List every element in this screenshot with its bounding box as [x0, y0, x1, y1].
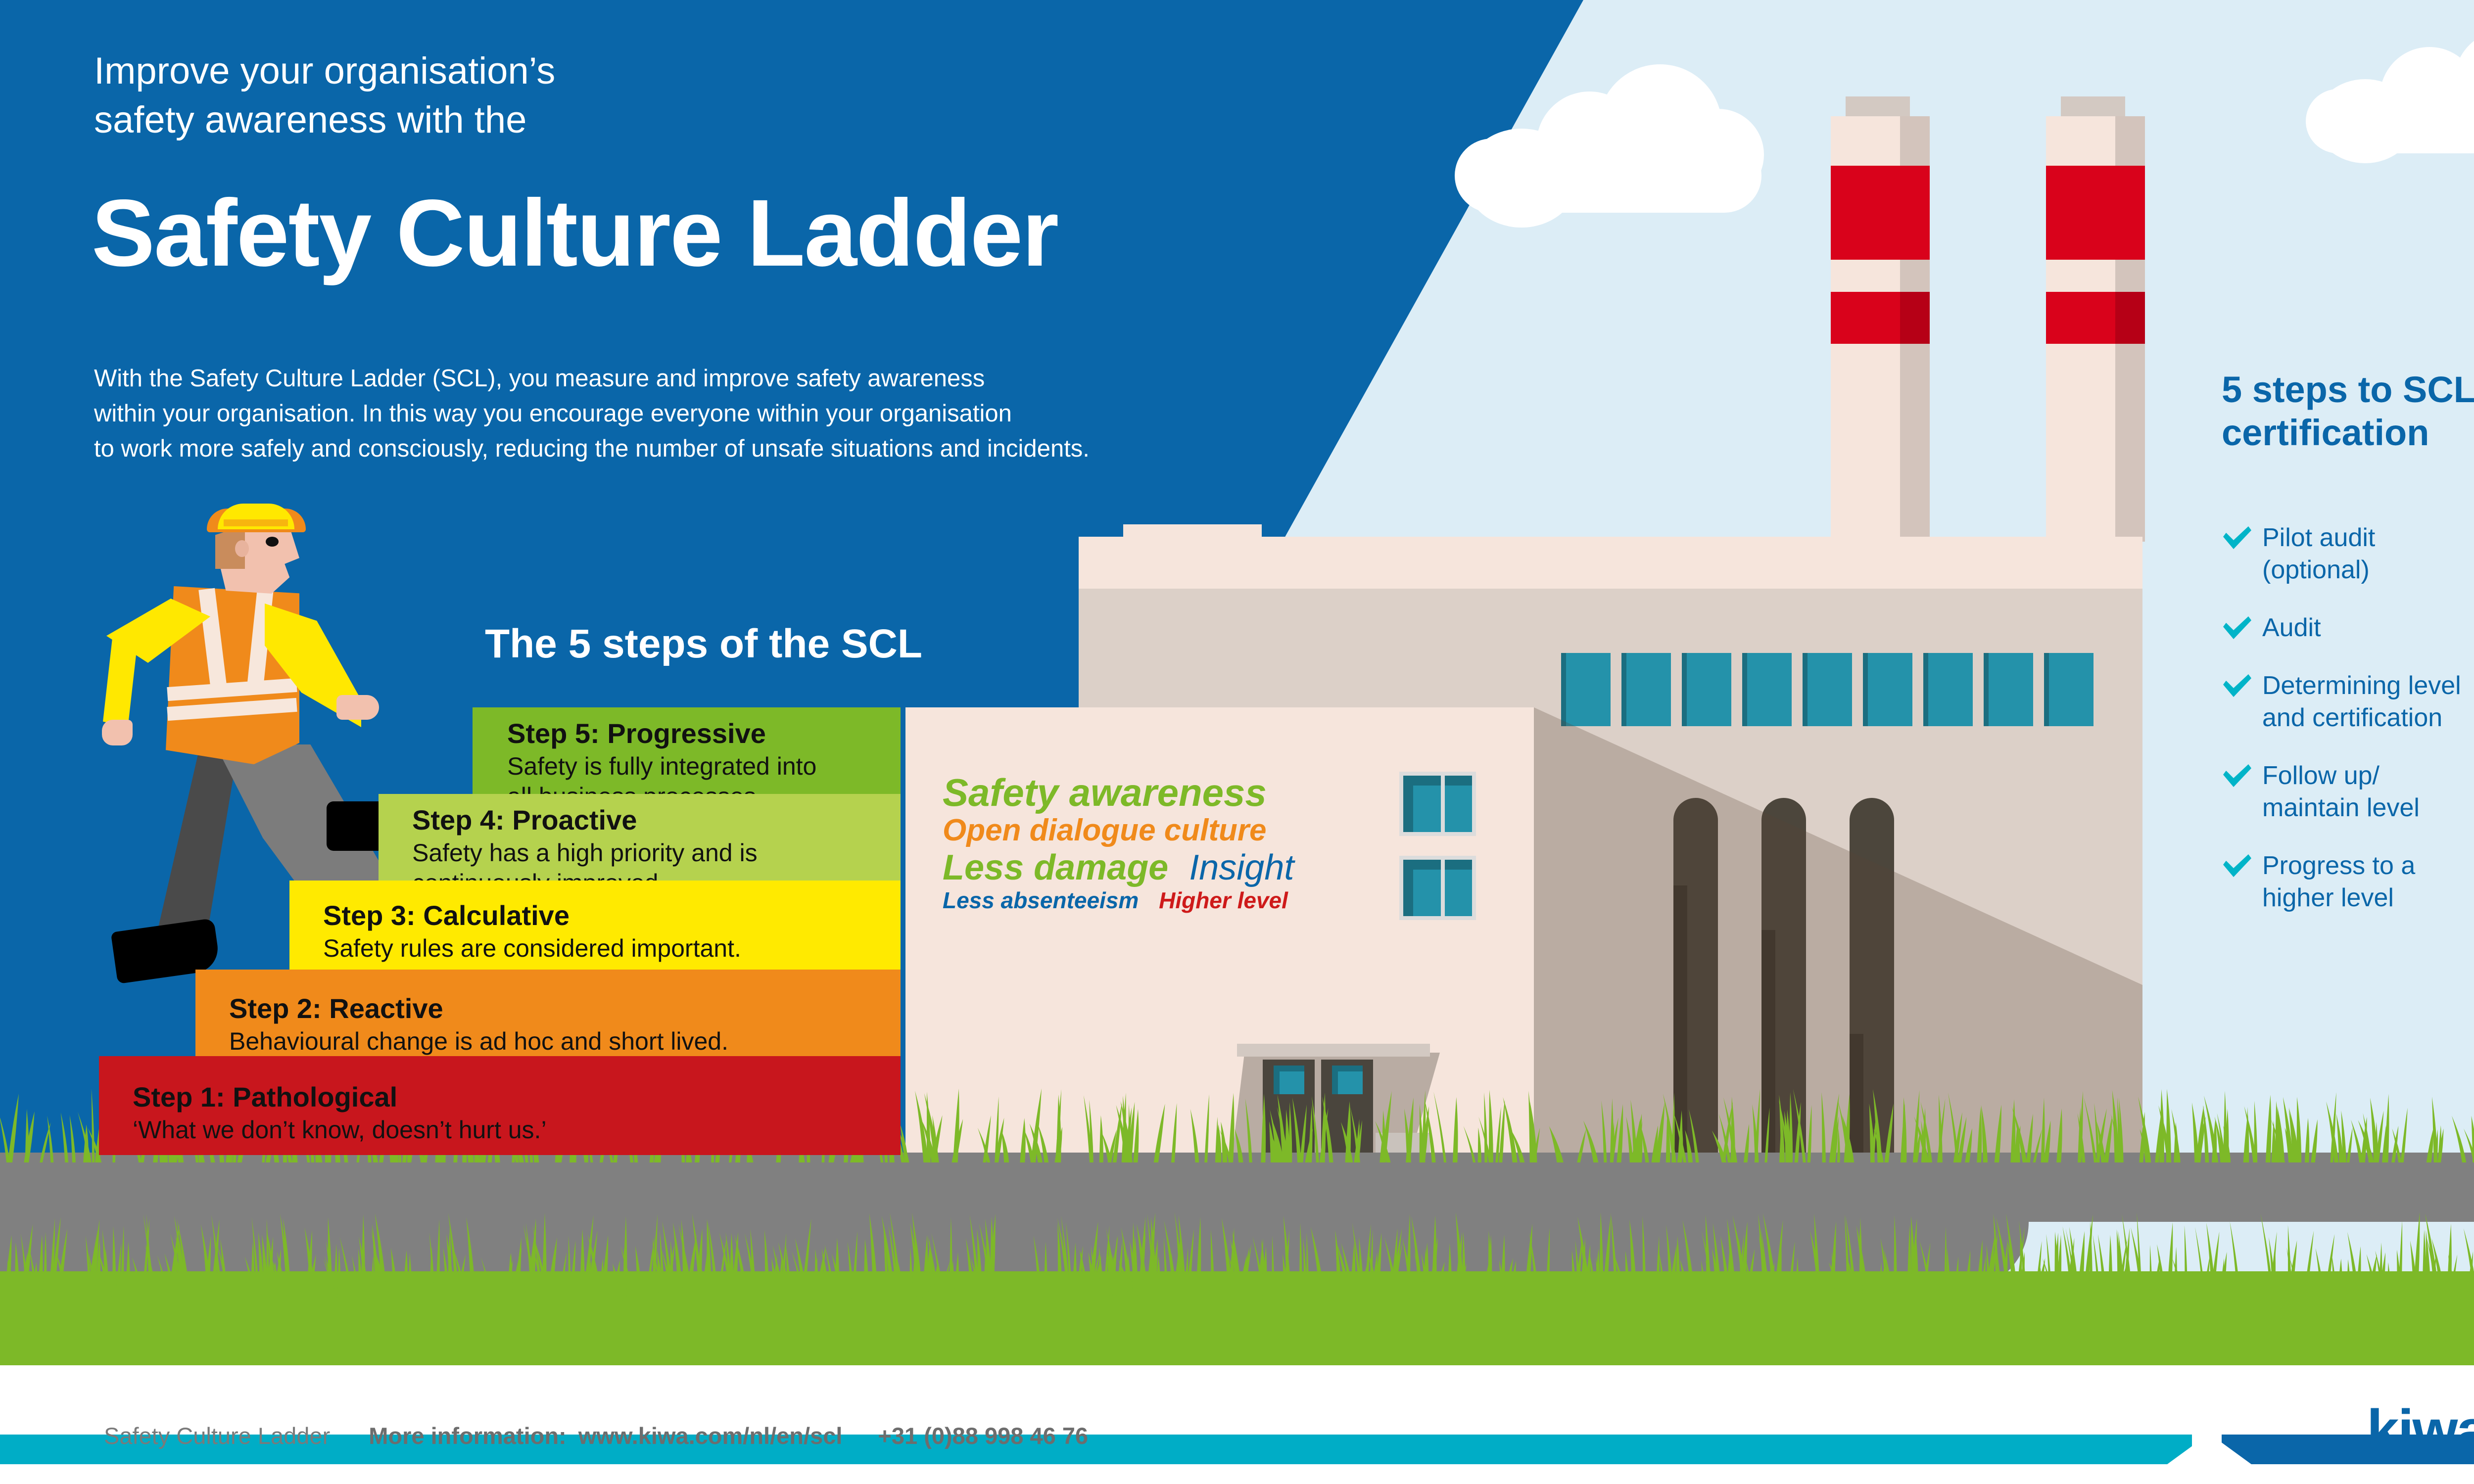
building-roof-line	[1079, 537, 2142, 589]
steps-section-heading: The 5 steps of the SCL	[485, 621, 922, 667]
sidebar-title-line-2: certification	[2222, 412, 2474, 455]
intro-line-3: to work more safely and consciously, red…	[94, 431, 1090, 466]
step-1-title: Step 1: Pathological	[133, 1082, 901, 1113]
cloud-left-icon	[1455, 64, 1761, 213]
footer-url[interactable]: www.kiwa.com/nl/en/scl	[578, 1422, 843, 1449]
step-card-4[interactable]: Step 4: Proactive Safety has a high prio…	[379, 794, 901, 881]
step-2-desc-1: Behavioural change is ad hoc and short l…	[229, 1026, 901, 1057]
sidebar-item-3-line-1: Determining level	[2262, 671, 2461, 700]
infographic-poster: Improve your organisation’s safety aware…	[0, 0, 2474, 1484]
chimney-right	[2046, 96, 2145, 542]
step-card-2[interactable]: Step 2: Reactive Behavioural change is a…	[195, 970, 901, 1056]
check-icon	[2222, 612, 2262, 642]
footer-label: Safety Culture Ladder	[104, 1422, 330, 1449]
page-title: Safety Culture Ladder	[92, 185, 1058, 280]
sidebar-item-progress[interactable]: Progress to a higher level	[2222, 850, 2474, 914]
worker-left-forearm	[103, 633, 139, 727]
step-3-title: Step 3: Calculative	[323, 900, 901, 931]
step-1-desc-1: ‘What we don’t know, doesn’t hurt us.’	[133, 1115, 901, 1145]
word-less-damage: Less damage	[943, 848, 1168, 887]
step-5-title: Step 5: Progressive	[507, 718, 901, 749]
word-insight: Insight	[1189, 848, 1294, 887]
footer-phone[interactable]: +31 (0)88 998 46 76	[878, 1422, 1088, 1449]
sidebar-item-determining-level[interactable]: Determining level and certification	[2222, 670, 2474, 734]
word-higher-level: Higher level	[1159, 887, 1288, 913]
step-5-desc-1: Safety is fully integrated into	[507, 751, 901, 782]
intro-line-1: With the Safety Culture Ladder (SCL), yo…	[94, 361, 1090, 396]
word-less-absenteeism: Less absenteeism	[943, 887, 1139, 913]
step-card-5[interactable]: Step 5: Progressive Safety is fully inte…	[473, 707, 901, 794]
step-4-title: Step 4: Proactive	[412, 805, 901, 836]
cloud-right-icon	[2306, 30, 2474, 153]
check-icon	[2222, 522, 2262, 552]
footer-more-info-label: More information:	[369, 1422, 566, 1449]
sidebar-item-3-line-2: and certification	[2262, 703, 2442, 732]
worker-ear	[235, 540, 249, 557]
intro-line-2: within your organisation. In this way yo…	[94, 396, 1090, 431]
sidebar-item-audit[interactable]: Audit	[2222, 612, 2474, 644]
worker-hardhat-ridge	[224, 519, 288, 526]
page-intro: With the Safety Culture Ladder (SCL), yo…	[94, 361, 1090, 466]
sidebar-item-5-line-2: higher level	[2262, 883, 2394, 912]
kiwa-logo-wordmark: kiwa	[2367, 1408, 2474, 1453]
step-4-desc-1: Safety has a high priority and is	[412, 838, 901, 868]
step-card-1[interactable]: Step 1: Pathological ‘What we don’t know…	[99, 1056, 901, 1155]
worker-left-hand	[102, 720, 133, 745]
sidebar-item-4-line-2: maintain level	[2262, 793, 2420, 822]
sidebar-title-line-1: 5 steps to SCL	[2222, 369, 2474, 412]
sidebar-title: 5 steps to SCL certification	[2222, 369, 2474, 454]
worker-eye	[266, 537, 279, 547]
chimney-left	[1831, 96, 1930, 542]
worker-right-hand	[336, 695, 379, 720]
check-icon	[2222, 670, 2262, 700]
step-2-title: Step 2: Reactive	[229, 993, 901, 1024]
word-safety-awareness: Safety awareness	[943, 772, 1437, 813]
page-kicker: Improve your organisation’s safety aware…	[94, 47, 555, 145]
kicker-line-2: safety awareness with the	[94, 96, 555, 145]
sidebar-item-1-line-1: Pilot audit	[2262, 523, 2375, 552]
sidebar-item-follow-up[interactable]: Follow up/ maintain level	[2222, 760, 2474, 824]
sidebar-item-5-line-1: Progress to a	[2262, 851, 2415, 880]
kicker-line-1: Improve your organisation’s	[94, 47, 555, 96]
building-window-strip	[1561, 653, 2105, 726]
check-icon	[2222, 760, 2262, 790]
sidebar-checklist: Pilot audit (optional) Audit Determining…	[2222, 522, 2474, 940]
step-3-desc-1: Safety rules are considered important.	[323, 933, 901, 964]
check-icon	[2222, 850, 2262, 880]
sidebar-item-4-line-1: Follow up/	[2262, 761, 2379, 790]
sidebar-item-1-line-2: (optional)	[2262, 556, 2370, 584]
footer-text: Safety Culture Ladder More information: …	[104, 1422, 1088, 1449]
step-card-3[interactable]: Step 3: Calculative Safety rules are con…	[289, 881, 901, 970]
grass-front-row	[0, 1212, 2474, 1301]
word-open-dialogue: Open dialogue culture	[943, 813, 1437, 847]
sidebar-item-pilot-audit[interactable]: Pilot audit (optional)	[2222, 522, 2474, 586]
word-cloud: Safety awareness Open dialogue culture L…	[943, 772, 1437, 914]
sidebar-item-2-line-1: Audit	[2262, 613, 2321, 642]
kiwa-logo[interactable]: kiwa	[2367, 1390, 2474, 1453]
